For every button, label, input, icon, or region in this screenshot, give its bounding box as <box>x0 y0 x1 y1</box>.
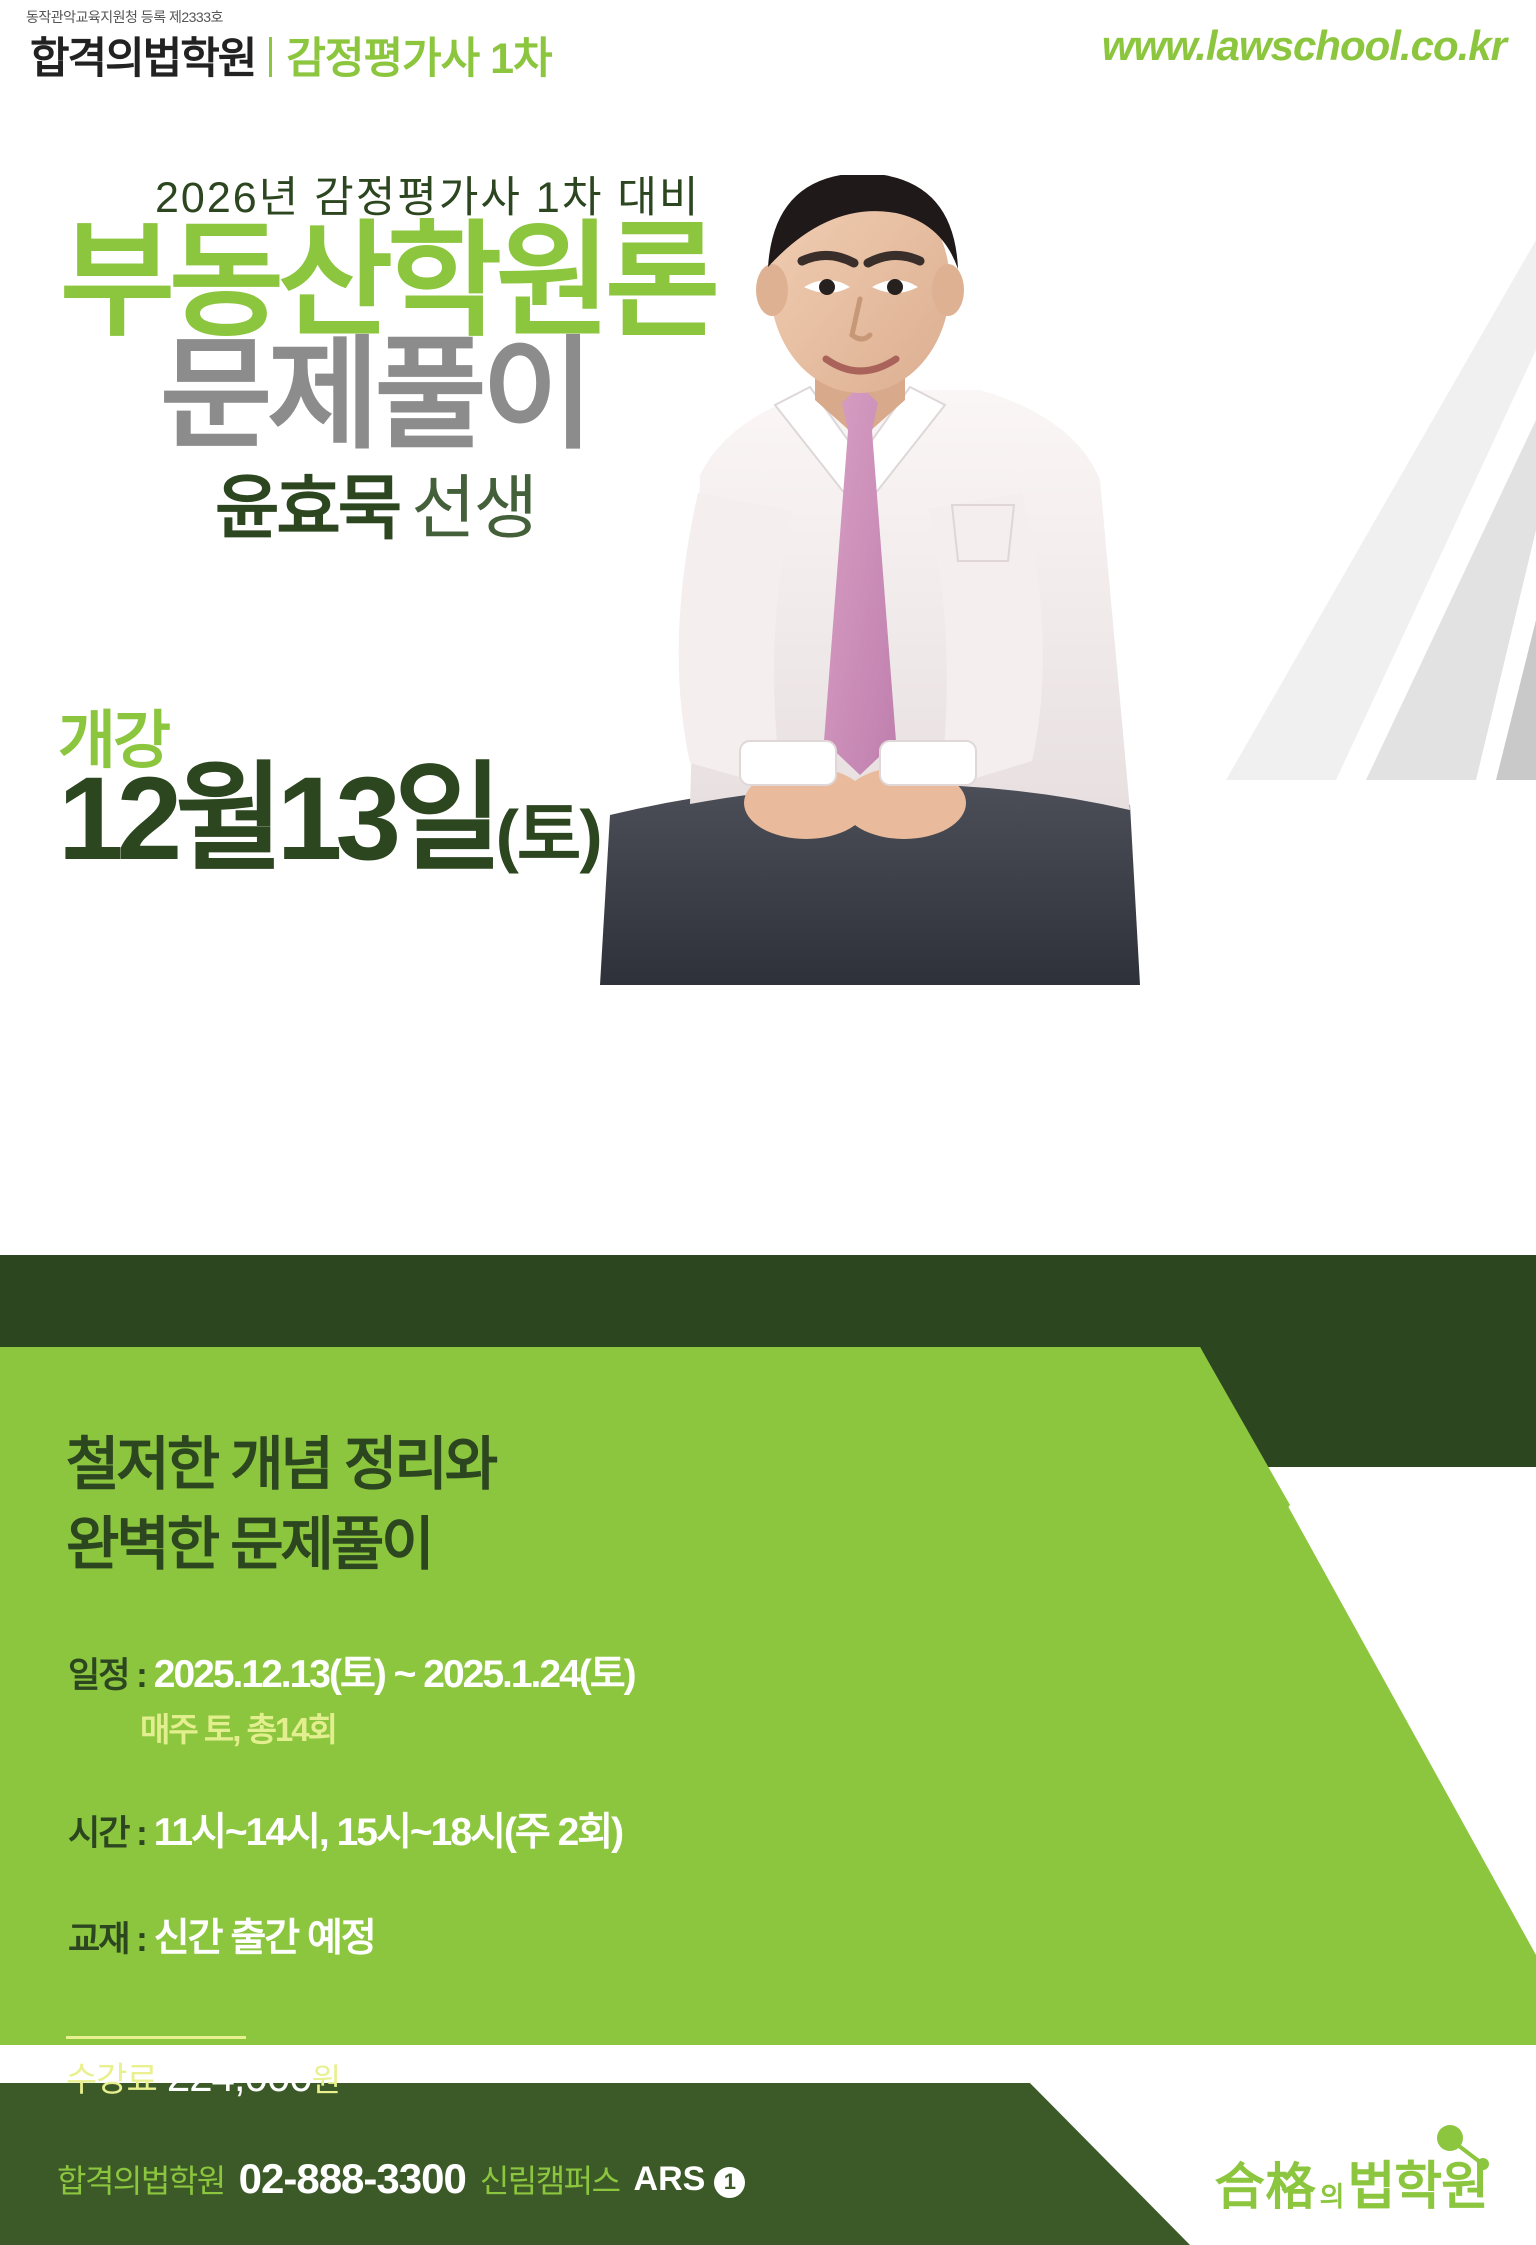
info-value-textbook: 신간 출간 예정 <box>154 1917 375 1960</box>
instructor-name-block: 윤효묵선생 <box>215 452 536 553</box>
footer-contact: 합격의법학원 02-888-3300 신림캠퍼스 ARS 1 <box>57 2155 745 2203</box>
opening-date: 12월13일 <box>58 753 496 885</box>
tuition-block: 수강료224,000원 <box>66 2036 340 2101</box>
course-info-list: 일정 :2025.12.13(토) ~ 2025.1.24(토) 매주 토, 총… <box>68 1643 635 1969</box>
logo-particle: 의 <box>1320 2175 1345 2214</box>
panel-headline-line2: 완벽한 문제풀이 <box>66 1512 432 1577</box>
spacer <box>68 1757 635 1801</box>
masthead-divider <box>269 37 272 77</box>
info-key-schedule: 일정 : <box>68 1656 146 1695</box>
tuition-currency-unit: 원 <box>312 2062 340 2098</box>
tuition-divider <box>66 2036 246 2039</box>
footer-ars-number-badge: 1 <box>714 2167 745 2198</box>
info-key-textbook: 교재 : <box>68 1920 146 1959</box>
academy-logo: 合格 의 법학원 <box>1215 2144 1488 2219</box>
footer-phone[interactable]: 02-888-3300 <box>239 2155 466 2203</box>
logo-dot-mark-icon <box>1432 2124 1492 2177</box>
info-key-time: 시간 : <box>68 1814 146 1853</box>
footer-campus: 신림캠퍼스 <box>480 2156 620 2202</box>
opening-date-block: 12월13일(토) <box>58 760 601 878</box>
course-title-sub: 문제풀이 <box>160 333 589 457</box>
instructor-name: 윤효묵 <box>215 469 399 547</box>
masthead-brand: 합격의법학원 <box>30 24 255 86</box>
info-value-schedule: 2025.12.13(토) ~ 2025.1.24(토) <box>154 1653 635 1696</box>
instructor-honorific: 선생 <box>411 469 536 547</box>
spacer <box>68 1863 635 1907</box>
info-row-time: 시간 :11시~14시, 15시~18시(주 2회) <box>68 1801 635 1857</box>
info-row-schedule: 일정 :2025.12.13(토) ~ 2025.1.24(토) 매주 토, 총… <box>68 1643 635 1751</box>
footer-brand: 합격의법학원 <box>57 2156 225 2202</box>
info-note-schedule: 매주 토, 총14회 <box>140 1703 635 1751</box>
panel-headline: 철저한 개념 정리와 완벽한 문제풀이 <box>66 1425 495 1585</box>
panel-headline-line1: 철저한 개념 정리와 <box>66 1432 495 1497</box>
masthead-course-category: 감정평가사 1차 <box>286 24 551 86</box>
poster-root: 동작관악교육지원청 등록 제2333호 합격의법학원 감정평가사 1차 www.… <box>0 0 1536 2245</box>
info-value-time: 11시~14시, 15시~18시(주 2회) <box>154 1811 622 1854</box>
tuition-label: 수강료 <box>66 2061 157 2099</box>
tuition-amount: 224,000 <box>167 2053 312 2100</box>
website-url[interactable]: www.lawschool.co.kr <box>1102 22 1506 70</box>
opening-day-of-week: (토) <box>496 796 601 874</box>
masthead: 합격의법학원 감정평가사 1차 <box>30 24 552 86</box>
tuition-line: 수강료224,000원 <box>66 2052 340 2101</box>
logo-hanja: 合格 <box>1215 2147 1317 2219</box>
footer-ars-label: ARS <box>634 2160 706 2199</box>
info-row-textbook: 교재 :신간 출간 예정 <box>68 1907 635 1963</box>
